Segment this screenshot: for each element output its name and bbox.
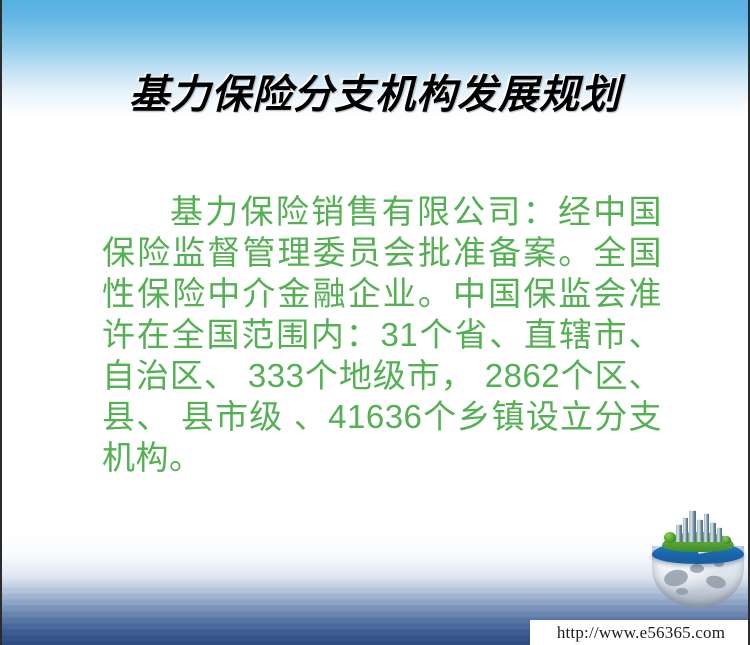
globe-landmass [663, 568, 690, 589]
building [704, 513, 709, 542]
globe-landmass [676, 588, 688, 595]
slide-canvas: 基力保险分支机构发展规划 基力保险销售有限公司：经中国保险监督管理委员会批准备案… [0, 0, 750, 645]
watermark-box: http://www.e56365.com [530, 620, 750, 645]
city-skyline-icon [676, 510, 722, 542]
globe-landmass [690, 564, 704, 573]
tree-icon [664, 532, 676, 543]
building [676, 524, 682, 542]
building [710, 522, 716, 542]
building [717, 527, 722, 542]
building [689, 510, 696, 542]
building [683, 517, 688, 542]
building [697, 519, 703, 542]
watermark-url: http://www.e56365.com [557, 623, 725, 643]
eco-city-globe-logo [650, 508, 746, 612]
tree-icon [722, 536, 731, 544]
slide-body-paragraph: 基力保险销售有限公司：经中国保险监督管理委员会批准备案。全国性保险中介金融企业。… [102, 191, 662, 478]
globe-landmass [705, 574, 727, 590]
slide-title: 基力保险分支机构发展规划 [2, 62, 748, 120]
